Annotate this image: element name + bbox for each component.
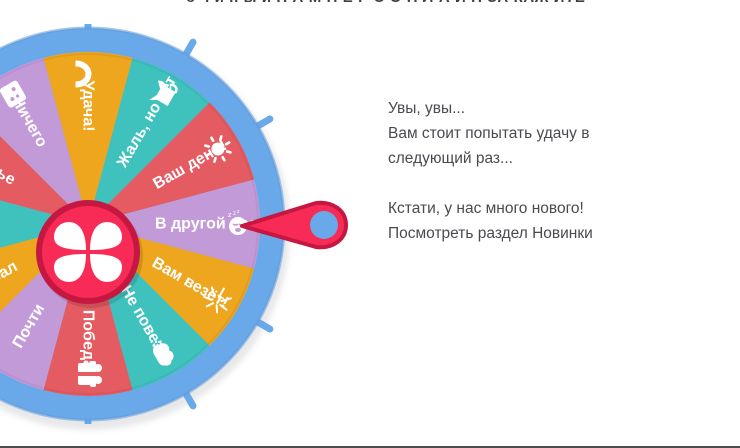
wheel-pointer[interactable]	[240, 196, 352, 254]
page-root: о ч и н ы й П А М П Е Р С О Н Л А Й Н ЗА…	[0, 0, 740, 448]
message-line-4: Кстати, у нас много нового!	[388, 196, 708, 221]
pointer-knob	[310, 211, 338, 239]
hub-face	[42, 206, 134, 298]
wheel-segment-label: Удача!	[80, 80, 97, 131]
clipped-headline: о ч и н ы й П А М П Е Р С О Н Л А Й Н ЗА…	[186, 0, 740, 5]
message-spacer	[388, 171, 708, 196]
message-line-3: следующий раз...	[388, 146, 708, 171]
message-line-5[interactable]: Посмотреть раздел Новинки	[388, 221, 708, 246]
svg-text:z: z	[233, 211, 236, 217]
message-line-1: Увы, увы...	[388, 96, 708, 121]
svg-text:z: z	[228, 212, 232, 219]
message-line-2: Вам стоит попытать удачу в	[388, 121, 708, 146]
result-message-panel: Увы, увы... Вам стоит попытать удачу в с…	[388, 96, 708, 246]
